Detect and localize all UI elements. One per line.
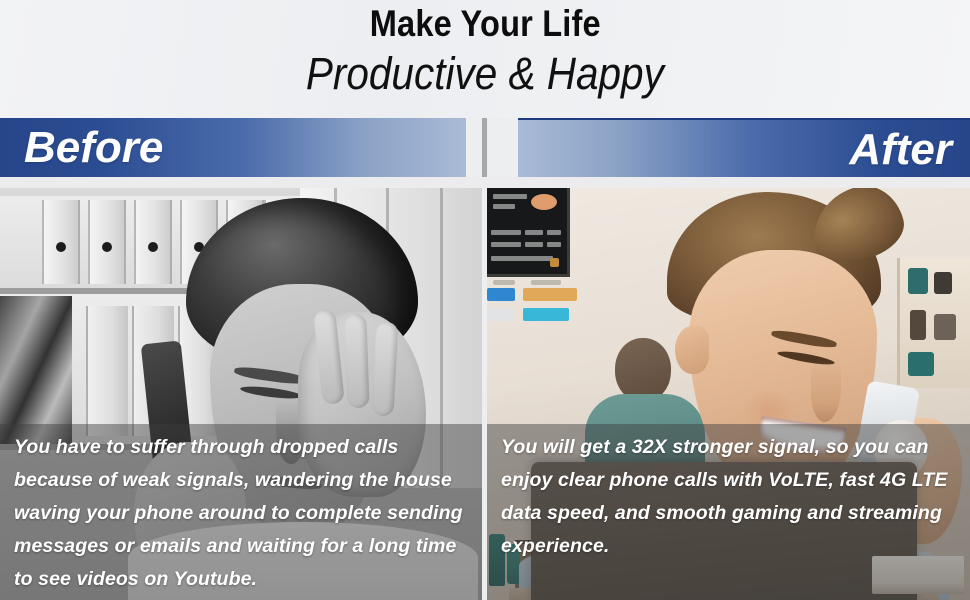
smiling-man-ear — [675, 326, 709, 374]
after-caption-text: You will get a 32X stronger signal, so y… — [501, 431, 956, 563]
before-after-infographic: Make Your Life Productive & Happy Before… — [0, 0, 970, 600]
before-caption-overlay: You have to suffer through dropped calls… — [0, 424, 482, 600]
banner-photo-gap — [0, 177, 970, 188]
before-caption-text: You have to suffer through dropped calls… — [14, 431, 468, 596]
shelf-clutter — [0, 296, 72, 444]
page-title-line-1: Make Your Life — [369, 3, 600, 46]
after-caption-overlay: You will get a 32X stronger signal, so y… — [487, 424, 970, 600]
page-title-line-2: Productive & Happy — [306, 48, 664, 100]
after-panel: You will get a 32X stronger signal, so y… — [487, 188, 970, 600]
column-divider — [482, 118, 487, 184]
cafe-menu-board — [487, 188, 570, 277]
before-label-text: Before — [24, 126, 163, 170]
before-panel: You have to suffer through dropped calls… — [0, 188, 482, 600]
header-banner: Make Your Life Productive & Happy — [0, 0, 970, 118]
after-label-text: After — [849, 128, 952, 172]
after-label-banner: After — [518, 118, 970, 179]
before-label-banner: Before — [0, 118, 466, 177]
